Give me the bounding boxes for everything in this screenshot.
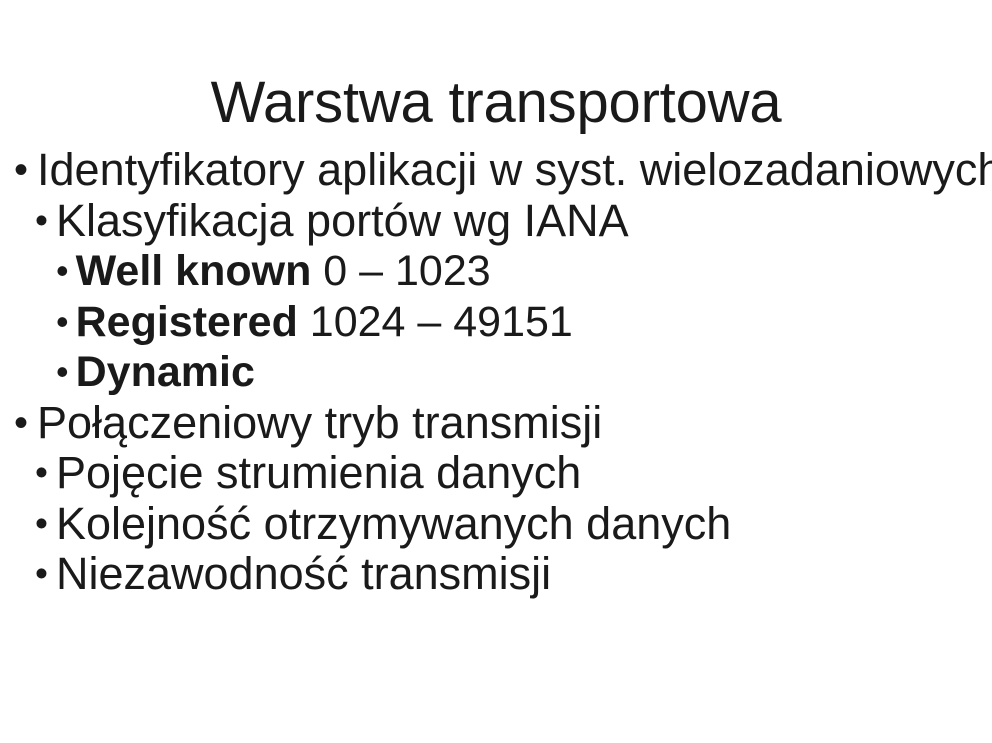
bullet-icon: • xyxy=(56,246,69,297)
port-class-name: Well known xyxy=(76,247,312,295)
list-item: •Niezawodność transmisji xyxy=(0,549,992,600)
bullet-list: •Identyfikatory aplikacji w syst. wieloz… xyxy=(0,145,992,600)
list-item-label: Połączeniowy tryb transmisji xyxy=(37,398,602,449)
list-item: •Kolejność otrzymywanych danych xyxy=(0,499,992,550)
bullet-icon: • xyxy=(35,549,48,600)
port-class-name: Registered xyxy=(76,298,298,346)
list-item-label: Klasyfikacja portów wg IANA xyxy=(56,196,629,247)
list-item-label: Dynamic xyxy=(76,347,255,398)
bullet-icon: • xyxy=(35,196,48,247)
list-item: •Połączeniowy tryb transmisji xyxy=(0,398,992,449)
port-range-value: 0 – 1023 xyxy=(311,247,490,295)
port-range-value: 1024 – 49151 xyxy=(298,298,573,346)
bullet-icon: • xyxy=(56,297,69,348)
list-item-label: Well known 0 – 1023 xyxy=(76,246,491,297)
list-item: •Registered 1024 – 49151 xyxy=(0,297,992,348)
list-item: •Pojęcie strumienia danych xyxy=(0,448,992,499)
bullet-icon: • xyxy=(56,347,69,398)
bullet-icon: • xyxy=(35,499,48,550)
list-item: •Klasyfikacja portów wg IANA xyxy=(0,196,992,247)
list-item: •Identyfikatory aplikacji w syst. wieloz… xyxy=(0,145,992,196)
bullet-icon: • xyxy=(14,145,28,196)
port-class-name: Dynamic xyxy=(76,348,255,396)
list-item: •Dynamic xyxy=(0,347,992,398)
list-item: •Well known 0 – 1023 xyxy=(0,246,992,297)
slide-canvas: Warstwa transportowa •Identyfikatory apl… xyxy=(0,0,992,743)
list-item-label: Identyfikatory aplikacji w syst. wieloza… xyxy=(37,145,992,196)
bullet-icon: • xyxy=(14,398,28,449)
list-item-label: Kolejność otrzymywanych danych xyxy=(56,499,731,550)
list-item-label: Niezawodność transmisji xyxy=(56,549,551,600)
page-title: Warstwa transportowa xyxy=(0,69,992,137)
list-item-label: Registered 1024 – 49151 xyxy=(76,297,573,348)
bullet-icon: • xyxy=(35,448,48,499)
list-item-label: Pojęcie strumienia danych xyxy=(56,448,581,499)
